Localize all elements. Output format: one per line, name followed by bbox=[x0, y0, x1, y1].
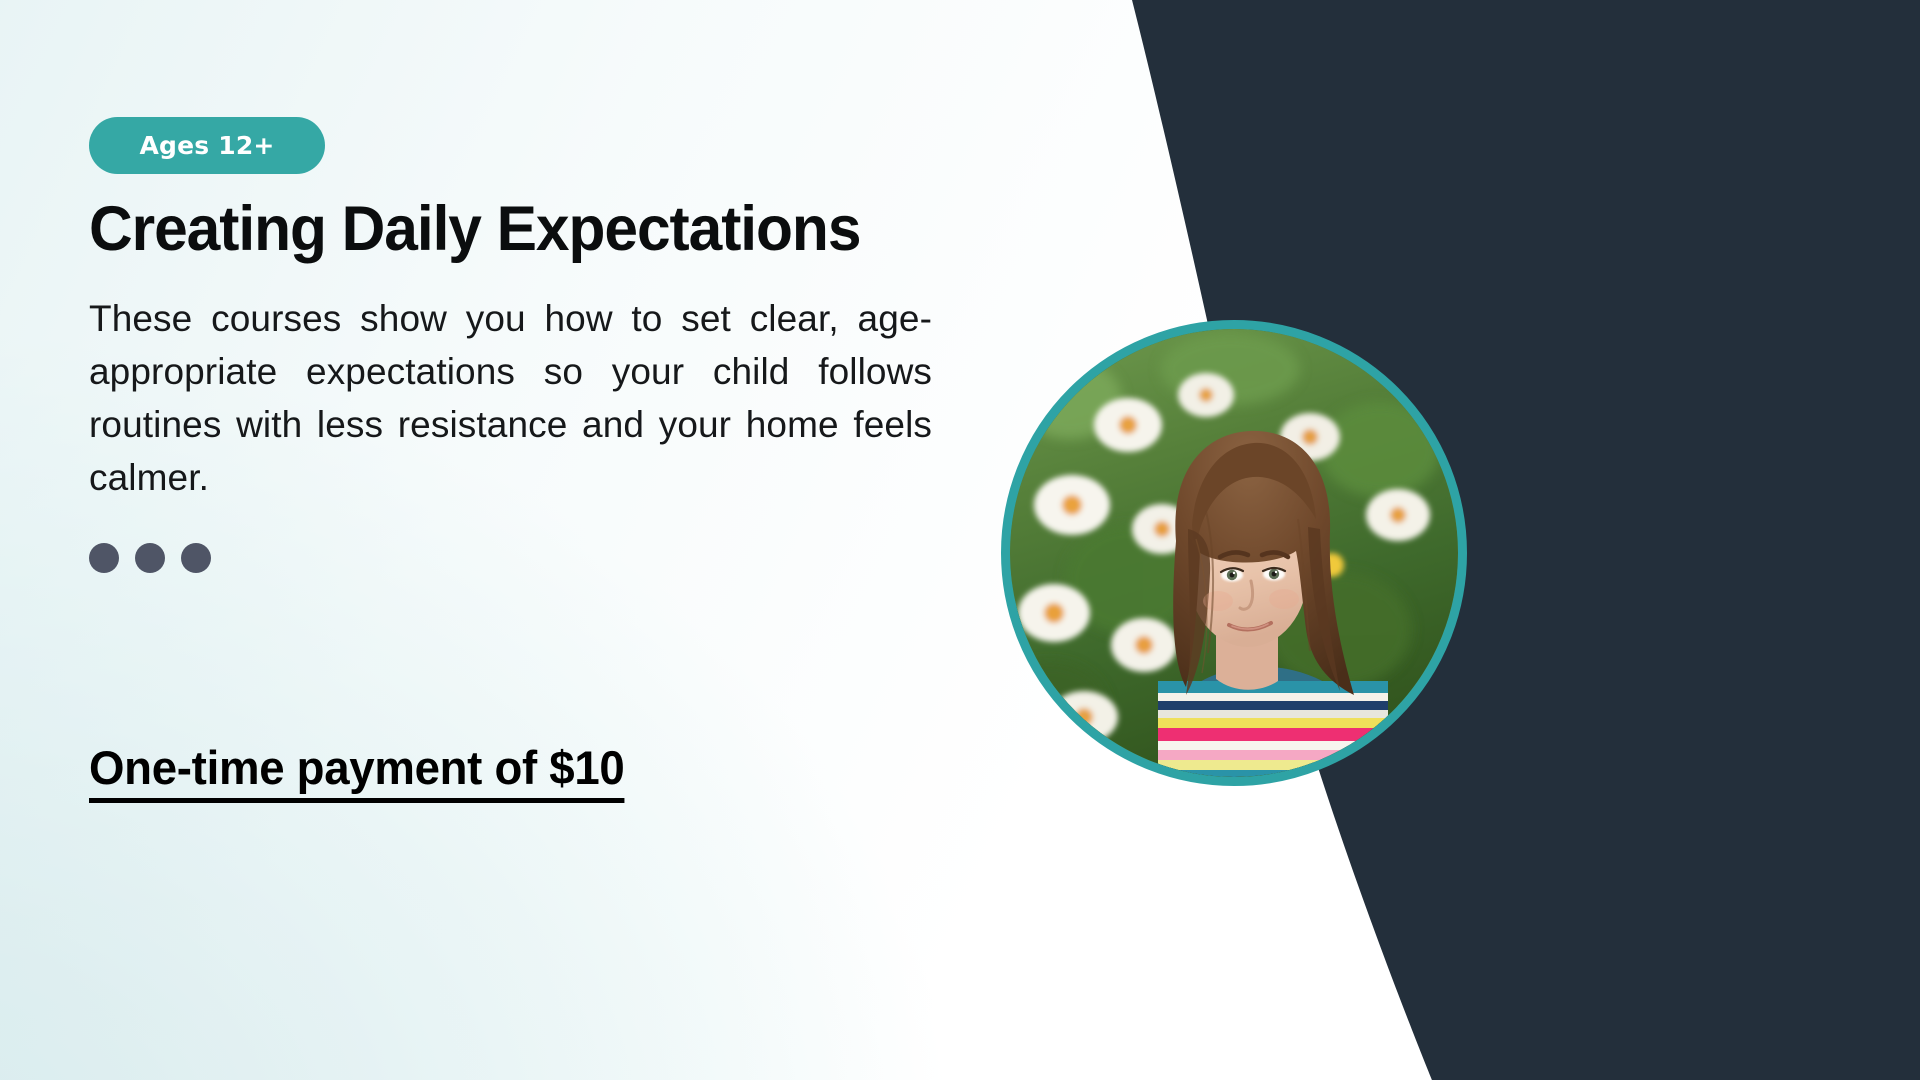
pagination-dot-1[interactable] bbox=[89, 543, 119, 573]
description-text: These courses show you how to set clear,… bbox=[89, 292, 932, 504]
pagination-dot-2[interactable] bbox=[135, 543, 165, 573]
text-column: Ages 12+ Creating Daily Expectations The… bbox=[89, 0, 934, 1080]
portrait-avatar bbox=[1001, 320, 1467, 786]
pagination-dots[interactable] bbox=[89, 543, 211, 573]
age-badge[interactable]: Ages 12+ bbox=[89, 117, 325, 174]
payment-cta-link[interactable]: One-time payment of $10 bbox=[89, 740, 624, 803]
page-title: Creating Daily Expectations bbox=[89, 195, 915, 263]
portrait-image bbox=[1010, 329, 1458, 777]
promo-slide: Ages 12+ Creating Daily Expectations The… bbox=[0, 0, 1920, 1080]
pagination-dot-3[interactable] bbox=[181, 543, 211, 573]
